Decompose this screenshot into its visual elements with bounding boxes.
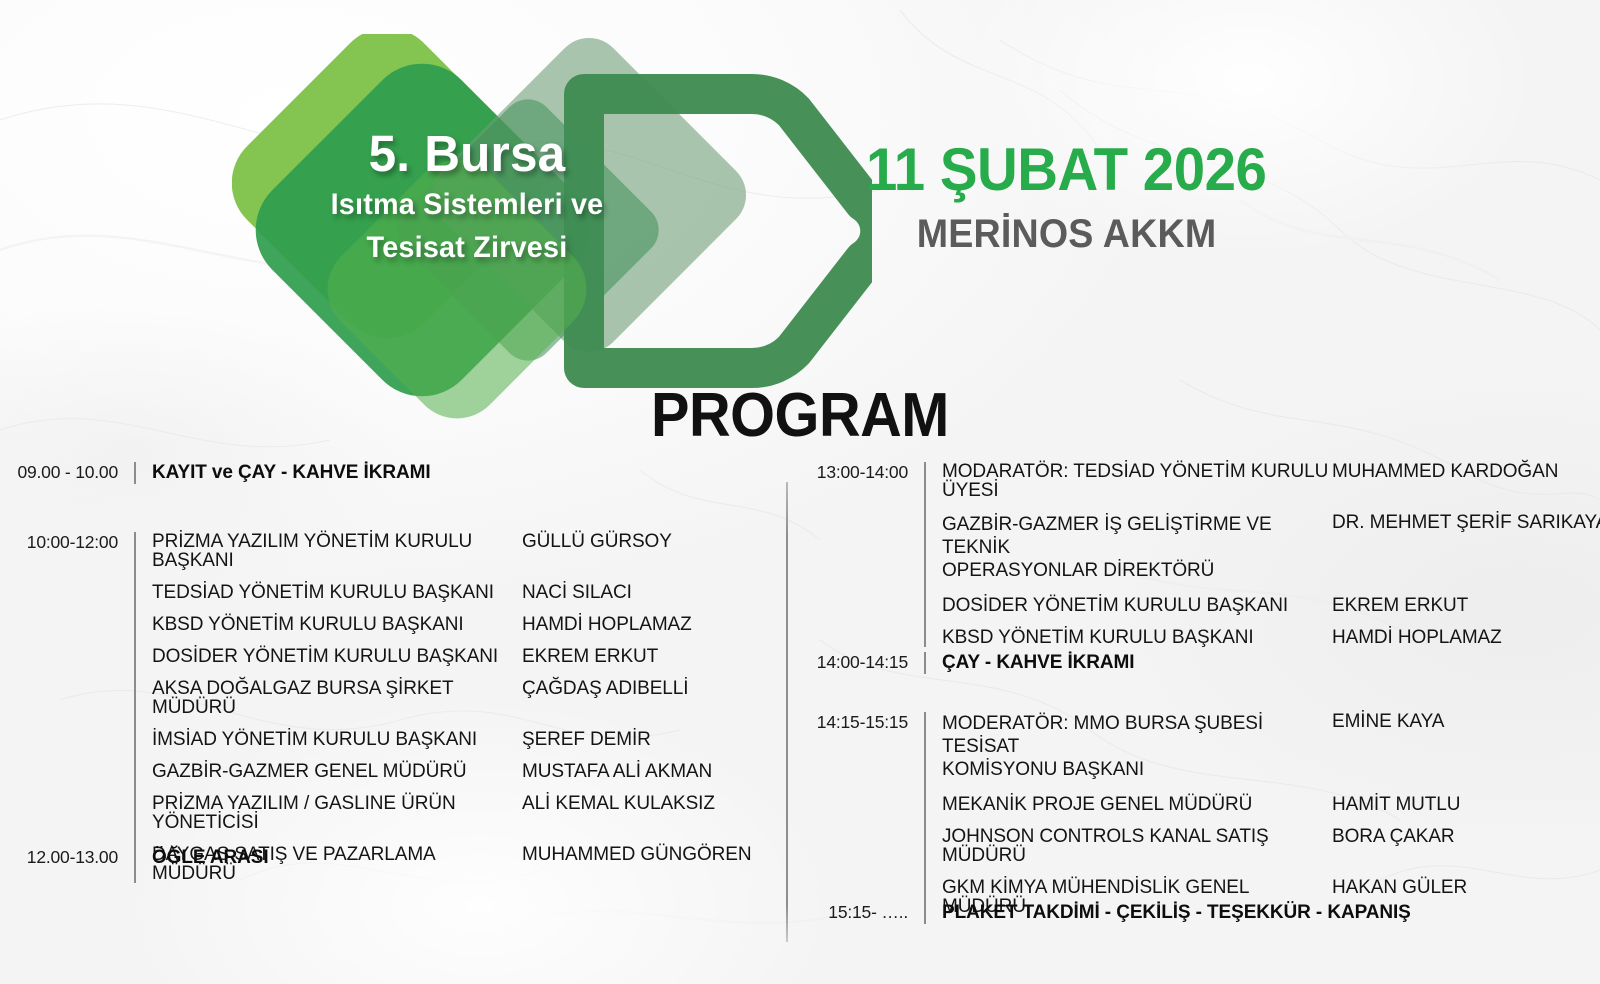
schedule-row-person: ŞEREF DEMİR <box>522 730 651 749</box>
schedule-row-person: EKREM ERKUT <box>1332 596 1468 615</box>
schedule-group: 14:00-14:15ÇAY - KAHVE İKRAMI <box>790 652 1600 674</box>
schedule-row-person: DR. MEHMET ŞERİF SARIKAYA <box>1332 513 1600 532</box>
schedule-row-person: ALİ KEMAL KULAKSIZ <box>522 794 715 813</box>
schedule-time: 14:00-14:15 <box>790 652 908 673</box>
schedule-group: 10:00-12:00PRİZMA YAZILIM YÖNETİM KURULU… <box>0 532 770 883</box>
schedule-time: 15:15- ….. <box>790 902 908 923</box>
schedule-rows: PLAKET TAKDİMİ - ÇEKİLİŞ - TEŞEKKÜR - KA… <box>926 902 1600 924</box>
schedule-row-role: KBSD YÖNETİM KURULU BAŞKANI <box>152 615 522 634</box>
schedule-row-role: MODERATÖR: MMO BURSA ŞUBESİ TESİSAT KOMİ… <box>942 712 1332 782</box>
schedule-group: 14:15-15:15MODERATÖR: MMO BURSA ŞUBESİ T… <box>790 712 1600 916</box>
schedule-row-person: MUHAMMED KARDOĞAN <box>1332 462 1558 481</box>
schedule-time: 13:00-14:00 <box>790 462 908 483</box>
schedule-group: 12.00-13.00ÖĞLE ARASI <box>0 847 770 869</box>
schedule-time: 10:00-12:00 <box>0 532 118 553</box>
schedule-rows: ÇAY - KAHVE İKRAMI <box>926 652 1600 674</box>
schedule-group: 15:15- …..PLAKET TAKDİMİ - ÇEKİLİŞ - TEŞ… <box>790 902 1600 924</box>
schedule-time: 14:15-15:15 <box>790 712 908 733</box>
schedule-row-person: GÜLLÜ GÜRSOY <box>522 532 672 551</box>
event-date-venue: 11 ŞUBAT 2026 MERİNOS AKKM <box>866 140 1292 254</box>
program-schedule: 09.00 - 10.00KAYIT ve ÇAY - KAHVE İKRAMI… <box>0 462 1600 982</box>
schedule-row-person: EMİNE KAYA <box>1332 712 1444 731</box>
schedule-row-person: EKREM ERKUT <box>522 647 658 666</box>
schedule-row-role: MODARATÖR: TEDSİAD YÖNETİM KURULU ÜYESİ <box>942 462 1332 500</box>
event-date: 11 ŞUBAT 2026 <box>866 140 1266 200</box>
schedule-row-person: HAMİT MUTLU <box>1332 795 1460 814</box>
schedule-row: MODARATÖR: TEDSİAD YÖNETİM KURULU ÜYESİM… <box>942 462 1600 500</box>
schedule-headline: KAYIT ve ÇAY - KAHVE İKRAMI <box>152 462 770 484</box>
schedule-row-person: HAMDİ HOPLAMAZ <box>1332 628 1502 647</box>
event-venue: MERİNOS AKKM <box>866 214 1266 254</box>
schedule-row-role: PRİZMA YAZILIM YÖNETİM KURULU BAŞKANI <box>152 532 522 570</box>
schedule-row-role: MEKANİK PROJE GENEL MÜDÜRÜ <box>942 795 1332 814</box>
schedule-row-role: AKSA DOĞALGAZ BURSA ŞİRKET MÜDÜRÜ <box>152 679 522 717</box>
schedule-row-role: DOSİDER YÖNETİM KURULU BAŞKANI <box>152 647 522 666</box>
schedule-row: MEKANİK PROJE GENEL MÜDÜRÜHAMİT MUTLU <box>942 795 1600 814</box>
schedule-row-person: BORA ÇAKAR <box>1332 827 1455 846</box>
schedule-row-role: TEDSİAD YÖNETİM KURULU BAŞKANI <box>152 583 522 602</box>
schedule-row-role: KBSD YÖNETİM KURULU BAŞKANI <box>942 628 1332 647</box>
schedule-headline: ÖĞLE ARASI <box>152 847 770 869</box>
event-title-line1: 5. Bursa <box>278 128 656 180</box>
schedule-row-person: NACİ SILACI <box>522 583 632 602</box>
schedule-row-role: DOSİDER YÖNETİM KURULU BAŞKANI <box>942 596 1332 615</box>
schedule-row-role: GAZBİR-GAZMER GENEL MÜDÜRÜ <box>152 762 522 781</box>
schedule-headline: ÇAY - KAHVE İKRAMI <box>942 652 1600 674</box>
schedule-row-person: MUSTAFA ALİ AKMAN <box>522 762 712 781</box>
schedule-row: TEDSİAD YÖNETİM KURULU BAŞKANINACİ SILAC… <box>152 583 770 602</box>
schedule-row: PRİZMA YAZILIM / GASLINE ÜRÜN YÖNETİCİSİ… <box>152 794 770 832</box>
schedule-row-person: ÇAĞDAŞ ADIBELLİ <box>522 679 688 698</box>
schedule-time: 09.00 - 10.00 <box>0 462 118 483</box>
schedule-row: KBSD YÖNETİM KURULU BAŞKANIHAMDİ HOPLAMA… <box>942 628 1600 647</box>
schedule-row: MODERATÖR: MMO BURSA ŞUBESİ TESİSAT KOMİ… <box>942 712 1600 782</box>
schedule-row: DOSİDER YÖNETİM KURULU BAŞKANIEKREM ERKU… <box>942 596 1600 615</box>
schedule-row: İMSİAD YÖNETİM KURULU BAŞKANIŞEREF DEMİR <box>152 730 770 749</box>
schedule-row: AKSA DOĞALGAZ BURSA ŞİRKET MÜDÜRÜÇAĞDAŞ … <box>152 679 770 717</box>
schedule-group: 13:00-14:00MODARATÖR: TEDSİAD YÖNETİM KU… <box>790 462 1600 647</box>
event-title-line3: Tesisat Zirvesi <box>280 229 654 266</box>
schedule-row-person: HAKAN GÜLER <box>1332 878 1467 897</box>
schedule-row: PRİZMA YAZILIM YÖNETİM KURULU BAŞKANIGÜL… <box>152 532 770 570</box>
schedule-time: 12.00-13.00 <box>0 847 118 868</box>
schedule-rows: KAYIT ve ÇAY - KAHVE İKRAMI <box>136 462 770 484</box>
poster-canvas: 5. Bursa Isıtma Sistemleri ve Tesisat Zi… <box>0 0 1600 984</box>
schedule-row-person: HAMDİ HOPLAMAZ <box>522 615 692 634</box>
schedule-rows: MODERATÖR: MMO BURSA ŞUBESİ TESİSAT KOMİ… <box>926 712 1600 916</box>
event-title-line2: Isıtma Sistemleri ve <box>280 186 654 223</box>
page-title: PROGRAM <box>651 385 949 447</box>
schedule-row-role: İMSİAD YÖNETİM KURULU BAŞKANI <box>152 730 522 749</box>
schedule-row-role: JOHNSON CONTROLS KANAL SATIŞ MÜDÜRÜ <box>942 827 1332 865</box>
schedule-row: JOHNSON CONTROLS KANAL SATIŞ MÜDÜRÜBORA … <box>942 827 1600 865</box>
schedule-row: GAZBİR-GAZMER İŞ GELİŞTİRME VE TEKNİK OP… <box>942 513 1600 583</box>
schedule-row: KBSD YÖNETİM KURULU BAŞKANIHAMDİ HOPLAMA… <box>152 615 770 634</box>
schedule-row-role: GAZBİR-GAZMER İŞ GELİŞTİRME VE TEKNİK OP… <box>942 513 1332 583</box>
schedule-rows: MODARATÖR: TEDSİAD YÖNETİM KURULU ÜYESİM… <box>926 462 1600 647</box>
schedule-headline: PLAKET TAKDİMİ - ÇEKİLİŞ - TEŞEKKÜR - KA… <box>942 902 1600 924</box>
schedule-row-role: PRİZMA YAZILIM / GASLINE ÜRÜN YÖNETİCİSİ <box>152 794 522 832</box>
schedule-row: DOSİDER YÖNETİM KURULU BAŞKANIEKREM ERKU… <box>152 647 770 666</box>
schedule-row: GAZBİR-GAZMER GENEL MÜDÜRÜMUSTAFA ALİ AK… <box>152 762 770 781</box>
schedule-rows: ÖĞLE ARASI <box>136 847 770 869</box>
schedule-group: 09.00 - 10.00KAYIT ve ÇAY - KAHVE İKRAMI <box>0 462 770 484</box>
event-title: 5. Bursa Isıtma Sistemleri ve Tesisat Zi… <box>272 128 662 266</box>
schedule-rows: PRİZMA YAZILIM YÖNETİM KURULU BAŞKANIGÜL… <box>136 532 770 883</box>
